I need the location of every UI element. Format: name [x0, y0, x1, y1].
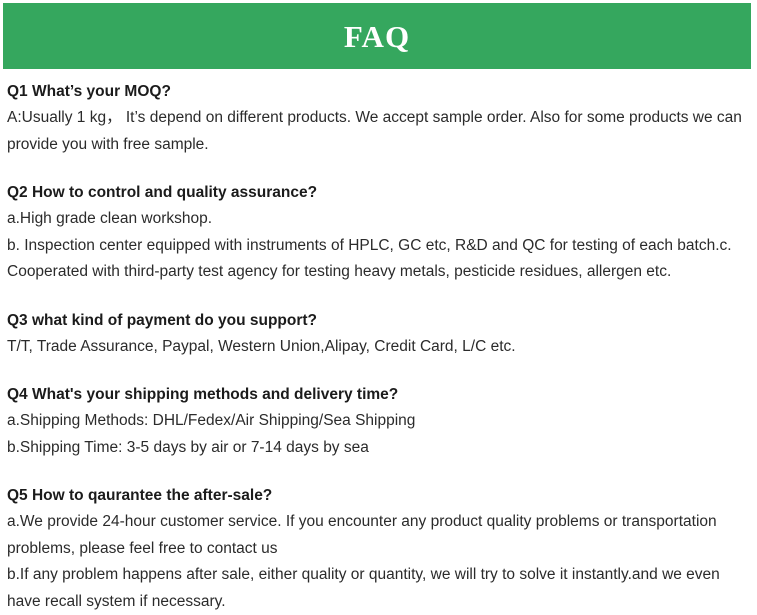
faq-answer: a.We provide 24-hour customer service. I…: [7, 509, 749, 562]
faq-item: Q5 How to qaurantee the after-sale?a.We …: [7, 483, 749, 615]
faq-question: Q2 How to control and quality assurance?: [7, 180, 749, 206]
faq-item: Q2 How to control and quality assurance?…: [7, 180, 749, 286]
faq-banner: FAQ: [3, 3, 751, 69]
faq-question: Q5 How to qaurantee the after-sale?: [7, 483, 749, 509]
faq-answer: a.High grade clean workshop.: [7, 206, 749, 233]
faq-item: Q3 what kind of payment do you support?T…: [7, 308, 749, 361]
faq-answer: a.Shipping Methods: DHL/Fedex/Air Shippi…: [7, 408, 749, 435]
faq-answer: T/T, Trade Assurance, Paypal, Western Un…: [7, 334, 749, 361]
faq-item: Q1 What’s your MOQ?A:Usually 1 kg， It’s …: [7, 79, 749, 158]
faq-list: Q1 What’s your MOQ?A:Usually 1 kg， It’s …: [0, 69, 757, 615]
faq-banner-title: FAQ: [344, 21, 410, 52]
faq-question: Q4 What's your shipping methods and deli…: [7, 382, 749, 408]
faq-item: Q4 What's your shipping methods and deli…: [7, 382, 749, 461]
faq-answer: A:Usually 1 kg， It’s depend on different…: [7, 105, 749, 158]
faq-answer: b. Inspection center equipped with instr…: [7, 233, 749, 286]
faq-answer: b.Shipping Time: 3-5 days by air or 7-14…: [7, 435, 749, 462]
faq-answer: b.If any problem happens after sale, eit…: [7, 562, 749, 615]
faq-question: Q1 What’s your MOQ?: [7, 79, 749, 105]
faq-page: FAQ Q1 What’s your MOQ?A:Usually 1 kg， I…: [0, 0, 757, 612]
faq-question: Q3 what kind of payment do you support?: [7, 308, 749, 334]
